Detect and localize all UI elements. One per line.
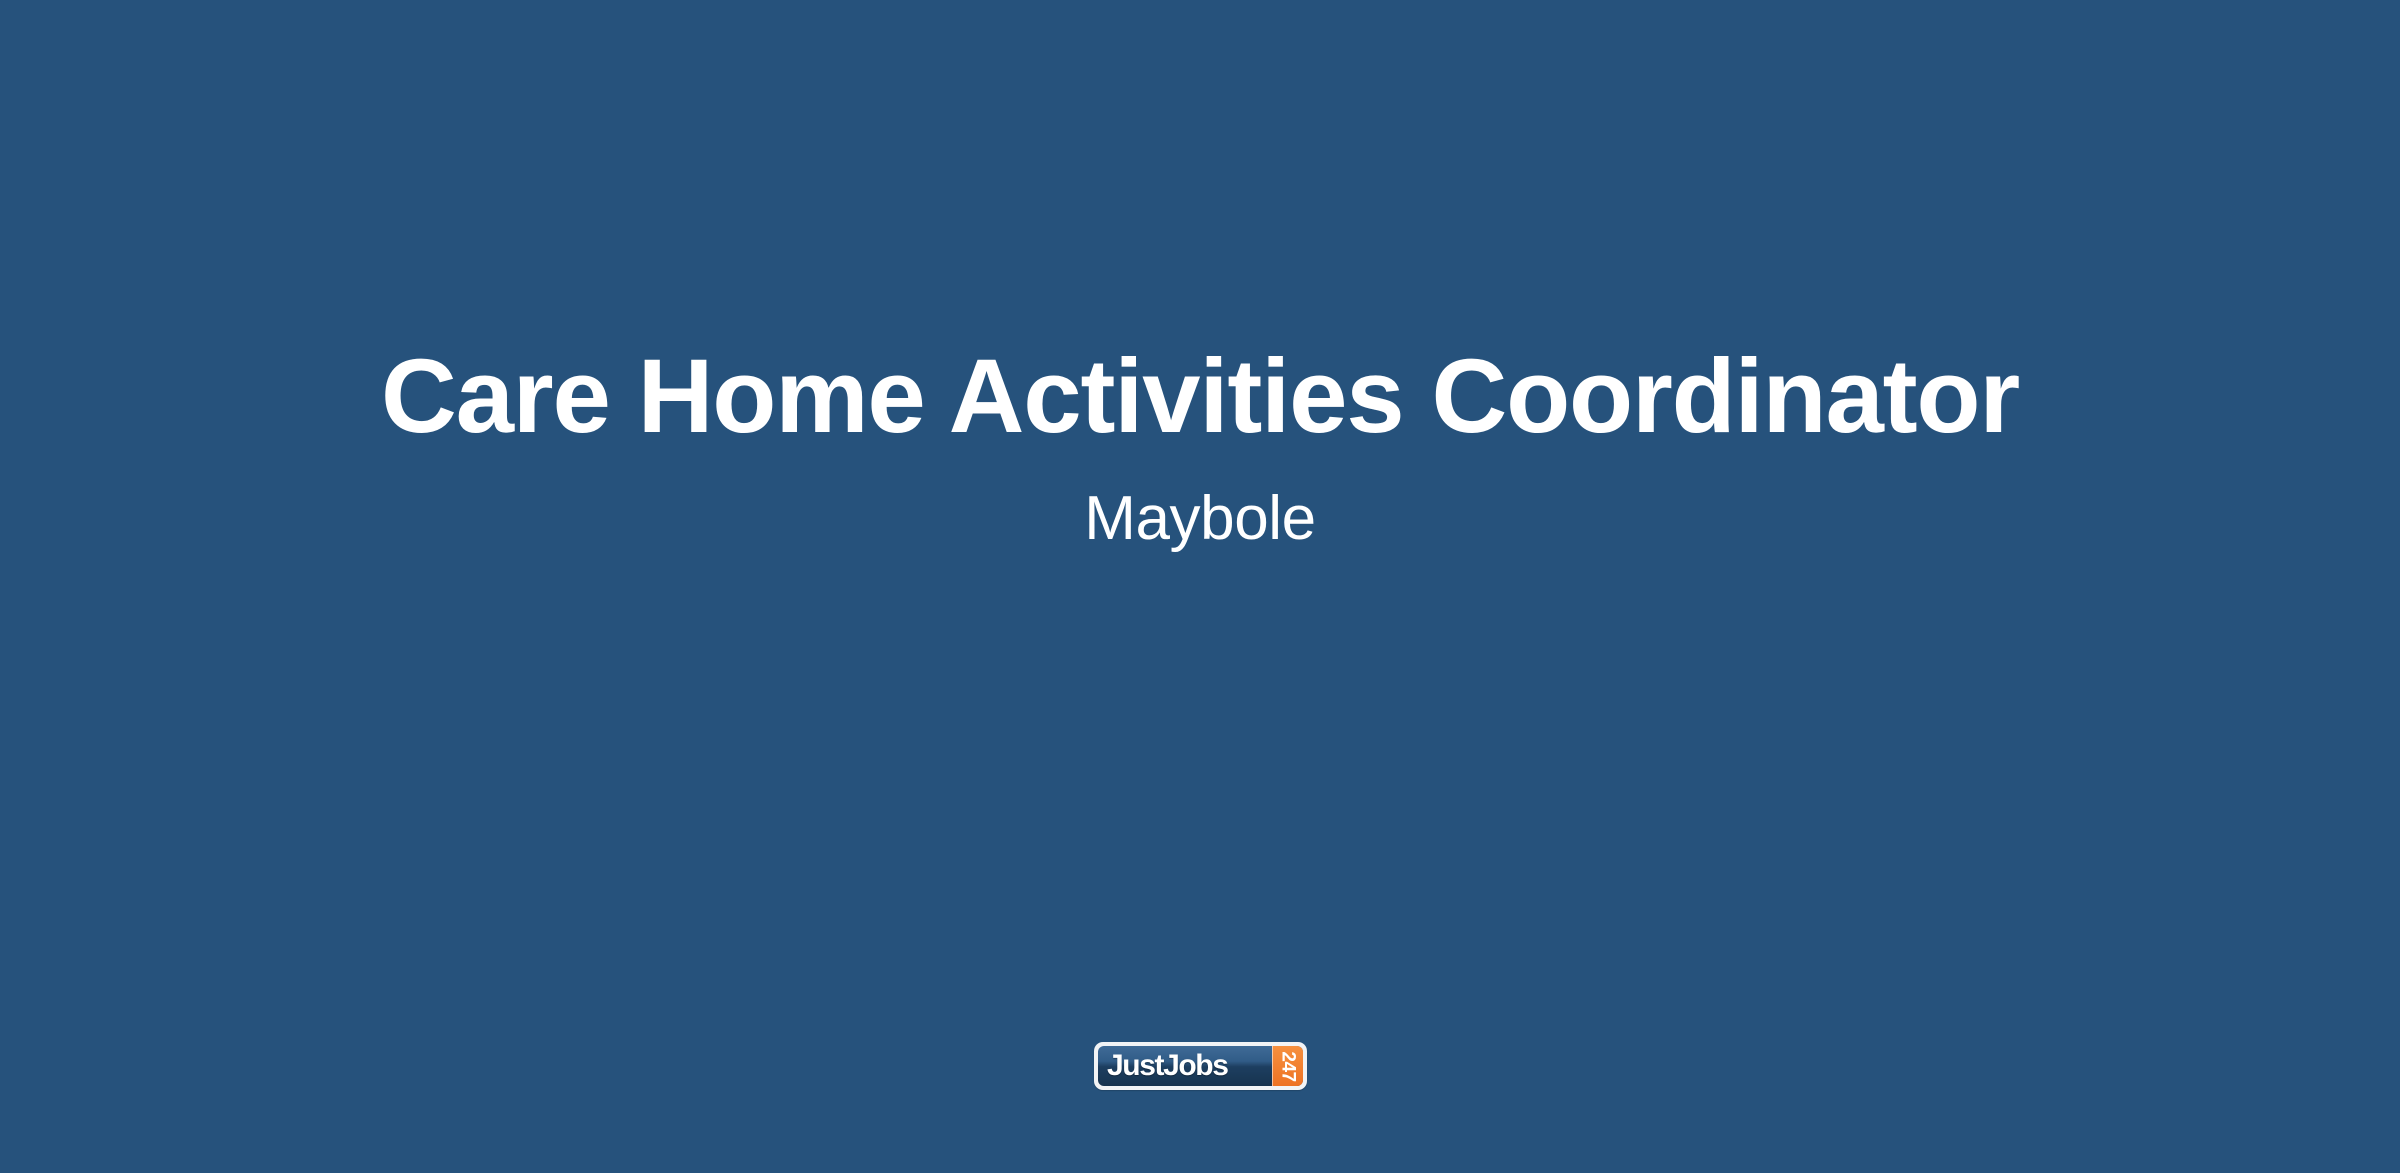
logo-wordmark: JustJobs <box>1098 1051 1272 1081</box>
logo-inner-panel: JustJobs 247 <box>1098 1046 1303 1086</box>
job-advert-card: Care Home Activities Coordinator Maybole… <box>0 0 2400 1173</box>
job-location: Maybole <box>300 471 2100 560</box>
job-headline-block: Care Home Activities Coordinator Maybole <box>0 322 2400 560</box>
logo-247-badge: 247 <box>1272 1046 1303 1086</box>
logo-247-badge-label: 247 <box>1279 1051 1298 1081</box>
page-title: Care Home Activities Coordinator <box>300 322 2100 471</box>
justjobs247-logo[interactable]: JustJobs 247 <box>1094 1042 1307 1090</box>
